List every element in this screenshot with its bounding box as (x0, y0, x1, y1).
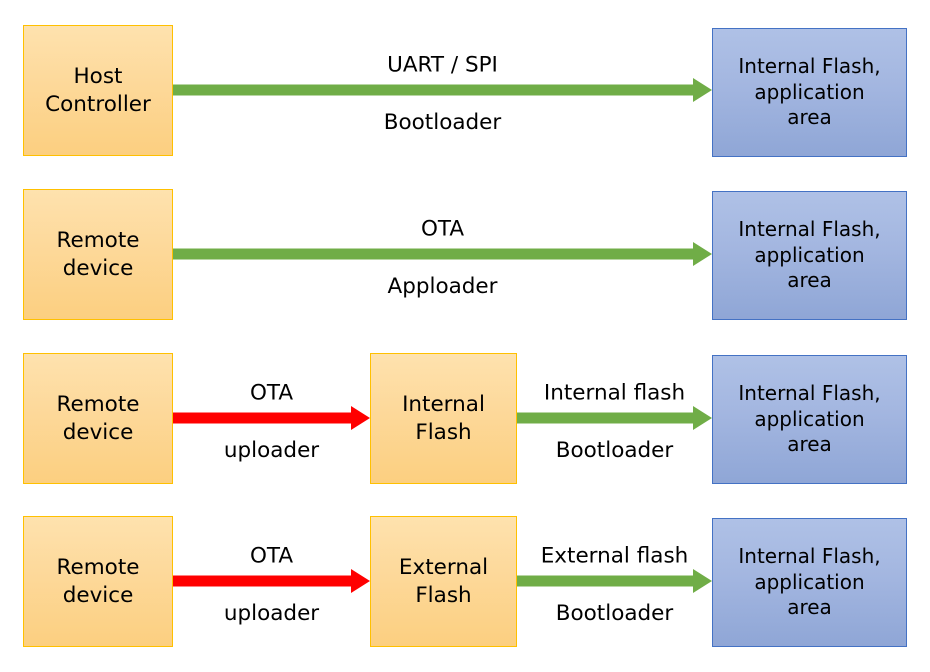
edge-label-row1-above: UART / SPI (173, 55, 712, 77)
arrow-green-row4 (517, 569, 712, 593)
node-internal-flash-buffer: Internal Flash (370, 353, 517, 484)
node-internal-flash-application-area-row1: Internal Flash, application area (712, 28, 907, 157)
node-internal-flash-application-area-row4: Internal Flash, application area (712, 518, 907, 647)
node-internal-flash-application-area-row3: Internal Flash, application area (712, 355, 907, 484)
edge-label-row1-below: Bootloader (173, 112, 712, 134)
edge-label-row4b-below: Bootloader (517, 603, 712, 625)
node-host-controller: Host Controller (23, 25, 173, 156)
node-remote-device-row3: Remote device (23, 353, 173, 484)
edge-label-row3a-below: uploader (173, 440, 370, 462)
node-external-flash-buffer: External Flash (370, 516, 517, 647)
edge-label-row4b-above: External flash (517, 546, 712, 568)
node-remote-device-row2: Remote device (23, 189, 173, 320)
node-remote-device-row4: Remote device (23, 516, 173, 647)
edge-label-row2-below: Apploader (173, 276, 712, 298)
edge-label-row4a-above: OTA (173, 546, 370, 568)
arrow-green-row3 (517, 406, 712, 430)
edge-label-row2-above: OTA (173, 219, 712, 241)
node-internal-flash-application-area-row2: Internal Flash, application area (712, 191, 907, 320)
arrow-red-row3 (173, 406, 370, 430)
firmware-update-flow-diagram: Host Controller UART / SPI Bootloader In… (0, 0, 930, 672)
edge-label-row3a-above: OTA (173, 383, 370, 405)
edge-label-row3b-above: Internal flash (517, 383, 712, 405)
edge-label-row4a-below: uploader (173, 603, 370, 625)
arrow-green-row1 (173, 78, 712, 102)
edge-label-row3b-below: Bootloader (517, 440, 712, 462)
arrow-green-row2 (173, 242, 712, 266)
arrow-red-row4 (173, 569, 370, 593)
